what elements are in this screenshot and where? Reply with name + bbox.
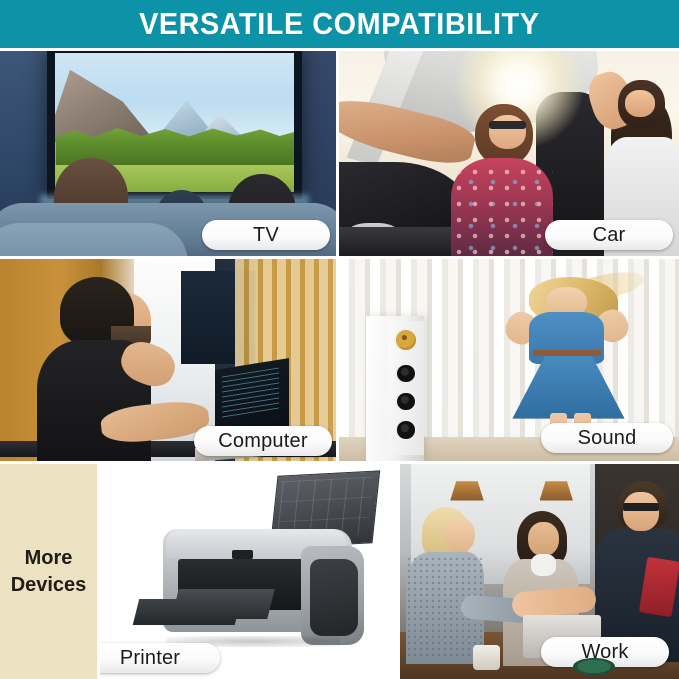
printer-output-tray-outer	[133, 599, 241, 625]
speaker-driver-3	[395, 419, 416, 440]
printer-right-cover	[310, 559, 358, 636]
page-title: VERSATILE COMPATIBILITY	[139, 6, 539, 42]
tv-sofa-arm	[0, 223, 188, 256]
printer-power-button	[232, 550, 253, 559]
sunglasses-icon	[489, 121, 526, 129]
woman-2-necklace	[531, 554, 556, 576]
tile-computer[interactable]: Computer	[0, 259, 336, 461]
compatibility-grid: TV	[0, 51, 679, 679]
tower-speaker	[366, 316, 424, 461]
infographic-page: VERSATILE COMPATIBILITY	[0, 0, 679, 679]
speaker-driver-2	[395, 391, 416, 412]
tile-tv[interactable]: TV	[0, 51, 336, 256]
green-plate	[573, 658, 615, 675]
speaker-driver-1	[395, 363, 416, 384]
tile-label-sound: Sound	[541, 423, 673, 453]
car-passenger-2-face	[625, 90, 656, 117]
eyeglasses-icon	[623, 503, 659, 512]
more-devices-line-2: Devices	[11, 572, 87, 598]
grid-row-2: Computer	[0, 259, 679, 461]
woman-2-face	[528, 522, 559, 556]
more-devices-label: More Devices	[11, 545, 87, 598]
speaker-tweeter-icon	[394, 328, 418, 352]
woman-1-face	[445, 518, 476, 552]
grid-row-1: TV	[0, 51, 679, 256]
laptop-screen-content	[222, 368, 279, 421]
more-devices-line-1: More	[11, 545, 87, 571]
grid-row-3: More Devices	[0, 464, 679, 679]
tile-sound[interactable]: Sound	[339, 259, 679, 461]
tile-work[interactable]: Work	[400, 464, 679, 679]
girl-belt	[533, 350, 601, 356]
tile-label-tv: TV	[202, 220, 330, 250]
tile-label-computer: Computer	[194, 426, 332, 456]
more-devices-panel: More Devices	[0, 464, 97, 679]
car-driver-face	[489, 115, 526, 150]
man-face	[623, 492, 659, 531]
car-driver-dress-pattern	[451, 164, 553, 256]
tile-car[interactable]: Car	[339, 51, 679, 256]
header-banner: VERSATILE COMPATIBILITY	[0, 0, 679, 48]
tile-label-printer: Printer	[100, 643, 220, 673]
coffee-cup	[473, 645, 501, 671]
speaker-baffle	[388, 321, 424, 455]
tile-label-car: Car	[545, 220, 673, 250]
tile-printer[interactable]: Printer	[100, 464, 400, 679]
